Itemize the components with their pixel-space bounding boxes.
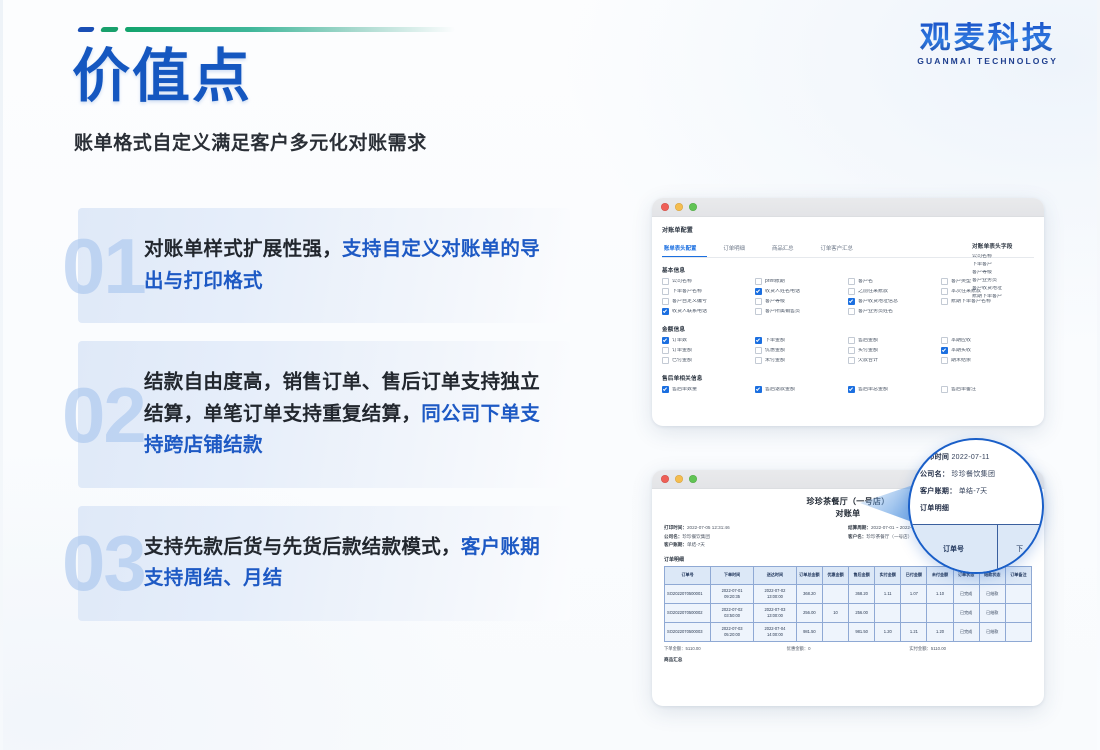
side-panel-item-label: 客户业务员 [972, 278, 997, 283]
checkbox-icon[interactable] [848, 288, 855, 295]
bill-column-header: 下单时间 [711, 566, 754, 584]
bill-column-header: 实付金额 [875, 566, 901, 584]
checkbox-checked-icon[interactable] [755, 386, 762, 393]
field-checkbox-option[interactable]: 本期应收 [941, 337, 1034, 344]
bill-meta-label: 客户名： [848, 534, 866, 539]
magnifier-row-value: 珍珍餐饮集团 [949, 471, 995, 478]
field-checkbox-option[interactable]: 已付金额 [662, 357, 755, 364]
field-label: 客户收货地址信息 [858, 299, 898, 304]
magnifier-row-value: 2022-07-11 [949, 454, 990, 461]
window-titlebar [652, 198, 1044, 217]
minimize-icon[interactable] [675, 203, 683, 211]
side-panel-item[interactable]: 公司名称 [972, 254, 1034, 259]
field-checkbox-option[interactable]: 下单客户名称 [662, 288, 755, 295]
field-checkbox-option[interactable]: 实付金额 [848, 347, 941, 354]
field-column: print账期收货人姓名电话客户等级客户所属销售员 [755, 278, 848, 318]
field-label: 售后金额 [858, 338, 878, 343]
field-checkbox-option[interactable]: 订单数 [662, 337, 755, 344]
checkbox-icon[interactable] [848, 337, 855, 344]
bill-total-item: 优惠金额：0 [787, 646, 910, 652]
field-column: 售后单总金额 [848, 386, 941, 396]
magnifier-content: 打印时间 2022-07-11公司名： 珍珍餐饮集团客户账期： 单结-7天订单明… [920, 452, 1036, 520]
bill-meta-value: 单结-7天 [687, 542, 705, 547]
bill-cell [1005, 603, 1031, 622]
magnifier-row: 公司名： 珍珍餐饮集团 [920, 469, 1036, 479]
field-label: 期末结余 [951, 358, 971, 363]
bill-meta-row: 公司名：珍珍餐饮集团 [664, 534, 848, 540]
field-label: 售后单备注 [951, 387, 976, 392]
field-checkbox-option[interactable]: 之前往来账款 [848, 288, 941, 295]
bill-meta-label: 打印时间： [664, 525, 687, 530]
close-icon[interactable] [661, 475, 669, 483]
field-group-title: 金额信息 [662, 325, 1034, 333]
field-label: 已付金额 [672, 358, 692, 363]
bill-cell [822, 622, 848, 641]
checkbox-icon[interactable] [848, 347, 855, 354]
field-checkbox-option[interactable]: 下单金额 [755, 337, 848, 344]
close-icon[interactable] [661, 203, 669, 211]
field-label: 客户类型 [951, 279, 971, 284]
config-tab-1[interactable]: 订单明细 [721, 241, 756, 257]
feature-text: 结款自由度高，销售订单、售后订单支持独立结算，单笔订单支持重复结算，同公司下单支… [144, 367, 550, 462]
table-row: SO20220705000032022-07-0305:20:002022-07… [665, 622, 1032, 641]
table-row: SO20220705000022022-07-0203:50:002022-07… [665, 603, 1032, 622]
bill-cell: 2022-07-0109:20:35 [711, 584, 754, 603]
magnifier-row-label: 公司名： [920, 471, 949, 478]
field-label: 本期实收 [951, 348, 971, 353]
side-panel-item-label: 客户收货地址 [972, 286, 1002, 291]
bill-cell: SO2022070500003 [665, 622, 711, 641]
bill-cell [1005, 584, 1031, 603]
checkbox-icon[interactable] [941, 386, 948, 393]
field-checkbox-option[interactable]: 未付金额 [755, 357, 848, 364]
page-subtitle: 账单格式自定义满足客户多元化对账需求 [74, 128, 427, 155]
config-side-panel: 对账单表头字段 公司名称下单客户客户等级客户业务员客户收货地址账期下单客户 [972, 242, 1034, 302]
minimize-icon[interactable] [675, 475, 683, 483]
checkbox-checked-icon[interactable] [662, 337, 669, 344]
checkbox-checked-icon[interactable] [662, 386, 669, 393]
field-label: 客户所属销售员 [765, 309, 800, 314]
field-checkbox-option[interactable]: 客户等级 [755, 298, 848, 305]
side-panel-item[interactable]: 账期下单客户 [972, 294, 1034, 299]
field-checkbox-option[interactable]: 公司名称 [662, 278, 755, 285]
feature-number: 03 [62, 524, 145, 602]
field-label: 售后单数量 [672, 387, 697, 392]
logo-text-en: GUANMAI TECHNOLOGY [917, 56, 1058, 66]
feature-number: 02 [62, 376, 145, 454]
field-label: 之前往来账款 [858, 289, 888, 294]
magnifier-table-preview: 订单号 下 [910, 524, 1042, 573]
field-column: 售后退款金额 [755, 386, 848, 396]
magnifier-table-col2: 下 [997, 525, 1042, 573]
field-column: 订单数订单金额已付金额 [662, 337, 755, 367]
magnifier-row-label: 客户账期： [920, 488, 957, 495]
side-panel-item-label: 客户等级 [972, 270, 992, 275]
checkbox-icon[interactable] [941, 357, 948, 364]
bill-cell [927, 603, 953, 622]
field-group-title: 售后单相关信息 [662, 374, 1034, 382]
left-edge-accent [0, 0, 3, 750]
bill-cell: 368.20 [849, 584, 875, 603]
bill-cell: 981.50 [849, 622, 875, 641]
side-panel-item[interactable]: 下单客户 [972, 262, 1034, 267]
field-checkbox-option[interactable]: 收货人联系电话 [662, 308, 755, 315]
bill-meta-label: 客户账期： [664, 542, 687, 547]
bill-column-header: 送达时间 [754, 566, 797, 584]
field-label: 客户自定义编号 [672, 299, 707, 304]
bill-meta-value: 2022-07-05 12:31:46 [687, 525, 730, 530]
bill-cell: 256.00 [849, 603, 875, 622]
field-column: 售后单数量 [662, 386, 755, 396]
feature-text-plain: 支持先款后货与先货后款结款模式， [144, 536, 461, 558]
config-tab-3[interactable]: 订单客户汇总 [819, 241, 864, 257]
bill-meta-label: 结算周期： [848, 525, 871, 530]
brand-logo: 观麦科技 GUANMAI TECHNOLOGY [917, 22, 1058, 66]
checkbox-icon[interactable] [662, 357, 669, 364]
bill-column-header: 优惠金额 [822, 566, 848, 584]
bill-total-item: 下单金额：5110.00 [664, 646, 787, 652]
feature-card-03: 03支持先款后货与先货后款结款模式，客户账期支持周结、月结 [78, 506, 570, 621]
field-checkbox-option[interactable]: 售后金额 [848, 337, 941, 344]
accent-line-green [125, 27, 455, 32]
checkbox-checked-icon[interactable] [755, 288, 762, 295]
magnifier-table-col1: 订单号 [910, 525, 998, 573]
magnifier-row-label: 订单明细 [920, 505, 949, 512]
checkbox-checked-icon[interactable] [755, 337, 762, 344]
side-panel-title: 对账单表头字段 [972, 242, 1034, 250]
logo-text-cn: 观麦科技 [917, 22, 1058, 55]
bill-cell: 2022-07-0305:20:00 [711, 622, 754, 641]
side-panel-items: 公司名称下单客户客户等级客户业务员客户收货地址账期下单客户 [972, 254, 1034, 299]
field-label: 客户业务员姓名 [858, 309, 893, 314]
field-label: print账期 [765, 279, 785, 284]
field-label: 欠款合计 [858, 358, 878, 363]
magnifier-row: 客户账期： 单结-7天 [920, 486, 1036, 496]
magnifier-lens: 打印时间 2022-07-11公司名： 珍珍餐饮集团客户账期： 单结-7天订单明… [908, 438, 1044, 574]
field-label: 下单客户名称 [672, 289, 702, 294]
header-accent-dashes [78, 26, 455, 32]
field-label: 售后单总金额 [858, 387, 888, 392]
bill-cell: 1.20 [875, 622, 901, 641]
field-column: 本期应收本期实收期末结余 [941, 337, 1034, 367]
checkbox-checked-icon[interactable] [662, 308, 669, 315]
bill-meta-value: 珍珍餐饮集团 [682, 534, 710, 539]
checkbox-icon[interactable] [848, 308, 855, 315]
feature-text: 支持先款后货与先货后款结款模式，客户账期支持周结、月结 [144, 532, 550, 595]
bill-meta-value: 珍珍茶餐厅（一号店） [866, 534, 912, 539]
bill-cell: 1.10 [927, 584, 953, 603]
bill-meta-row: 打印时间：2022-07-05 12:31:46 [664, 525, 848, 531]
feature-card-list: 01对账单样式扩展性强，支持自定义对账单的导出与打印格式02结款自由度高，销售订… [78, 208, 570, 639]
field-checkbox-option[interactable]: 客户自定义编号 [662, 298, 755, 305]
bill-meta-left: 打印时间：2022-07-05 12:31:46公司名：珍珍餐饮集团客户账期：单… [664, 525, 848, 551]
field-checkbox-option[interactable]: 本期实收 [941, 347, 1034, 354]
bill-cell: 2022-07-0213:00:00 [754, 584, 797, 603]
bill-cell [1005, 622, 1031, 641]
field-label: 订单金额 [672, 348, 692, 353]
field-checkbox-option[interactable]: print账期 [755, 278, 848, 285]
bill-column-header: 订单总金额 [796, 566, 822, 584]
bill-cell [822, 584, 848, 603]
config-tab-2[interactable]: 商品汇总 [770, 241, 805, 257]
side-panel-item[interactable]: 客户等级 [972, 270, 1034, 275]
checkbox-icon[interactable] [755, 278, 762, 285]
checkbox-icon[interactable] [755, 298, 762, 305]
checkbox-checked-icon[interactable] [848, 298, 855, 305]
config-tab-0[interactable]: 账单表头配置 [662, 241, 707, 257]
field-checkbox-option[interactable]: 收货人姓名电话 [755, 288, 848, 295]
feature-text: 对账单样式扩展性强，支持自定义对账单的导出与打印格式 [144, 234, 550, 297]
checkbox-icon[interactable] [755, 347, 762, 354]
bill-cell [875, 603, 901, 622]
bill-cell: 2022-07-0414:00:00 [754, 622, 797, 641]
field-group-columns: 售后单数量售后退款金额售后单总金额售后单备注 [662, 386, 1034, 396]
field-checkbox-option[interactable]: 欠款合计 [848, 357, 941, 364]
field-checkbox-option[interactable]: 售后单数量 [662, 386, 755, 393]
bill-cell: 已完成 [953, 622, 979, 641]
checkbox-icon[interactable] [941, 288, 948, 295]
slide-root: 价值点 账单格式自定义满足客户多元化对账需求 观麦科技 GUANMAI TECH… [0, 0, 1100, 750]
field-checkbox-option[interactable]: 客户名 [848, 278, 941, 285]
bill-cell: 1.20 [927, 622, 953, 641]
bill-footer-totals: 下单金额：5110.00优惠金额：0实付金额：5110.00 [664, 646, 1032, 652]
checkbox-icon[interactable] [848, 357, 855, 364]
bill-cell: 2022-07-0313:00:00 [754, 603, 797, 622]
field-label: 客户名 [858, 279, 873, 284]
bill-meta-label: 公司名： [664, 534, 682, 539]
side-panel-item-label: 账期下单客户 [972, 294, 1002, 299]
checkbox-checked-icon[interactable] [941, 347, 948, 354]
field-label: 收货人姓名电话 [765, 289, 800, 294]
checkbox-icon[interactable] [941, 337, 948, 344]
field-group: 售后单相关信息售后单数量售后退款金额售后单总金额售后单备注 [662, 374, 1034, 396]
field-label: 收货人联系电话 [672, 309, 707, 314]
bill-column-header: 订单号 [665, 566, 711, 584]
field-label: 下单金额 [765, 338, 785, 343]
field-column: 下单金额优惠金额未付金额 [755, 337, 848, 367]
field-column: 售后金额实付金额欠款合计 [848, 337, 941, 367]
bill-footer-section-title: 商品汇总 [664, 657, 1032, 663]
field-label: 售后退款金额 [765, 387, 795, 392]
side-panel-item[interactable]: 客户业务员 [972, 278, 1034, 283]
magnifier-row-value: 单结-7天 [957, 488, 988, 495]
magnifier-row: 打印时间 2022-07-11 [920, 452, 1036, 462]
bill-cell: 2022-07-0203:50:00 [711, 603, 754, 622]
field-checkbox-option[interactable]: 期末结余 [941, 357, 1034, 364]
magnifier-row: 订单明细 [920, 503, 1036, 513]
field-group-columns: 订单数订单金额已付金额下单金额优惠金额未付金额售后金额实付金额欠款合计本期应收本… [662, 337, 1034, 367]
maximize-icon[interactable] [689, 475, 697, 483]
checkbox-icon[interactable] [662, 347, 669, 354]
field-checkbox-option[interactable]: 售后单总金额 [848, 386, 941, 393]
accent-dash-green [100, 27, 119, 32]
checkbox-icon[interactable] [755, 308, 762, 315]
feature-card-02: 02结款自由度高，销售订单、售后订单支持独立结算，单笔订单支持重复结算，同公司下… [78, 341, 570, 488]
bill-cell: 1.21 [901, 622, 927, 641]
bill-cell: 981.50 [796, 622, 822, 641]
config-page-title: 对账单配置 [662, 225, 1034, 234]
bill-cell: 368.20 [796, 584, 822, 603]
field-column: 售后单备注 [941, 386, 1034, 396]
bill-cell: SO2022070500002 [665, 603, 711, 622]
checkbox-icon[interactable] [662, 278, 669, 285]
bill-cell: 1.07 [901, 584, 927, 603]
field-column: 公司名称下单客户名称客户自定义编号收货人联系电话 [662, 278, 755, 318]
field-checkbox-option[interactable]: 客户业务员姓名 [848, 308, 941, 315]
bill-cell: SO2022070500001 [665, 584, 711, 603]
feature-number: 01 [62, 227, 145, 305]
field-label: 本期应收 [951, 338, 971, 343]
field-group: 金额信息订单数订单金额已付金额下单金额优惠金额未付金额售后金额实付金额欠款合计本… [662, 325, 1034, 367]
checkbox-icon[interactable] [662, 288, 669, 295]
bill-cell: 已结款 [979, 584, 1005, 603]
feature-card-01: 01对账单样式扩展性强，支持自定义对账单的导出与打印格式 [78, 208, 570, 323]
checkbox-icon[interactable] [941, 278, 948, 285]
feature-text-plain: 对账单样式扩展性强， [144, 238, 342, 260]
field-column: 客户名之前往来账款客户收货地址信息客户业务员姓名 [848, 278, 941, 318]
field-checkbox-option[interactable]: 客户收货地址信息 [848, 298, 941, 305]
checkbox-icon[interactable] [848, 278, 855, 285]
checkbox-checked-icon[interactable] [848, 386, 855, 393]
field-checkbox-option[interactable]: 优惠金额 [755, 347, 848, 354]
maximize-icon[interactable] [689, 203, 697, 211]
bill-table-body: SO20220705000012022-07-0109:20:352022-07… [665, 584, 1032, 641]
magnifier-row-label: 打印时间 [920, 454, 949, 461]
bill-table: 订单号下单时间送达时间订单总金额优惠金额售后金额实付金额已付金额未付金额订单状态… [664, 566, 1032, 642]
bill-cell: 已完成 [953, 584, 979, 603]
checkbox-icon[interactable] [755, 357, 762, 364]
field-label: 未付金额 [765, 358, 785, 363]
field-checkbox-option[interactable]: 售后退款金额 [755, 386, 848, 393]
bill-cell [901, 603, 927, 622]
bill-cell: 已结款 [979, 622, 1005, 641]
field-label: 客户等级 [765, 299, 785, 304]
bill-cell: 1.11 [875, 584, 901, 603]
bill-cell: 已完成 [953, 603, 979, 622]
bill-total-item: 实付金额：5110.00 [909, 646, 1032, 652]
bill-cell: 256.00 [796, 603, 822, 622]
bill-column-header: 售后金额 [849, 566, 875, 584]
app-window-config: 对账单配置 账单表头配置订单明细商品汇总订单客户汇总 基本信息公司名称下单客户名… [652, 198, 1044, 426]
side-panel-item-label: 公司名称 [972, 254, 992, 259]
field-label: 优惠金额 [765, 348, 785, 353]
page-title: 价值点 [72, 48, 252, 106]
checkbox-icon[interactable] [941, 298, 948, 305]
bill-meta-row: 客户账期：单结-7天 [664, 542, 848, 548]
accent-dash-blue [77, 27, 95, 32]
field-label: 实付金额 [858, 348, 878, 353]
field-label: 订单数 [672, 338, 687, 343]
field-checkbox-option[interactable]: 售后单备注 [941, 386, 1034, 393]
field-label: 公司名称 [672, 279, 692, 284]
side-panel-item-label: 下单客户 [972, 262, 992, 267]
bill-cell: 10 [822, 603, 848, 622]
side-panel-item[interactable]: 客户收货地址 [972, 286, 1034, 291]
field-checkbox-option[interactable]: 客户所属销售员 [755, 308, 848, 315]
bill-cell: 已结款 [979, 603, 1005, 622]
checkbox-icon[interactable] [662, 298, 669, 305]
field-checkbox-option[interactable]: 订单金额 [662, 347, 755, 354]
table-row: SO20220705000012022-07-0109:20:352022-07… [665, 584, 1032, 603]
